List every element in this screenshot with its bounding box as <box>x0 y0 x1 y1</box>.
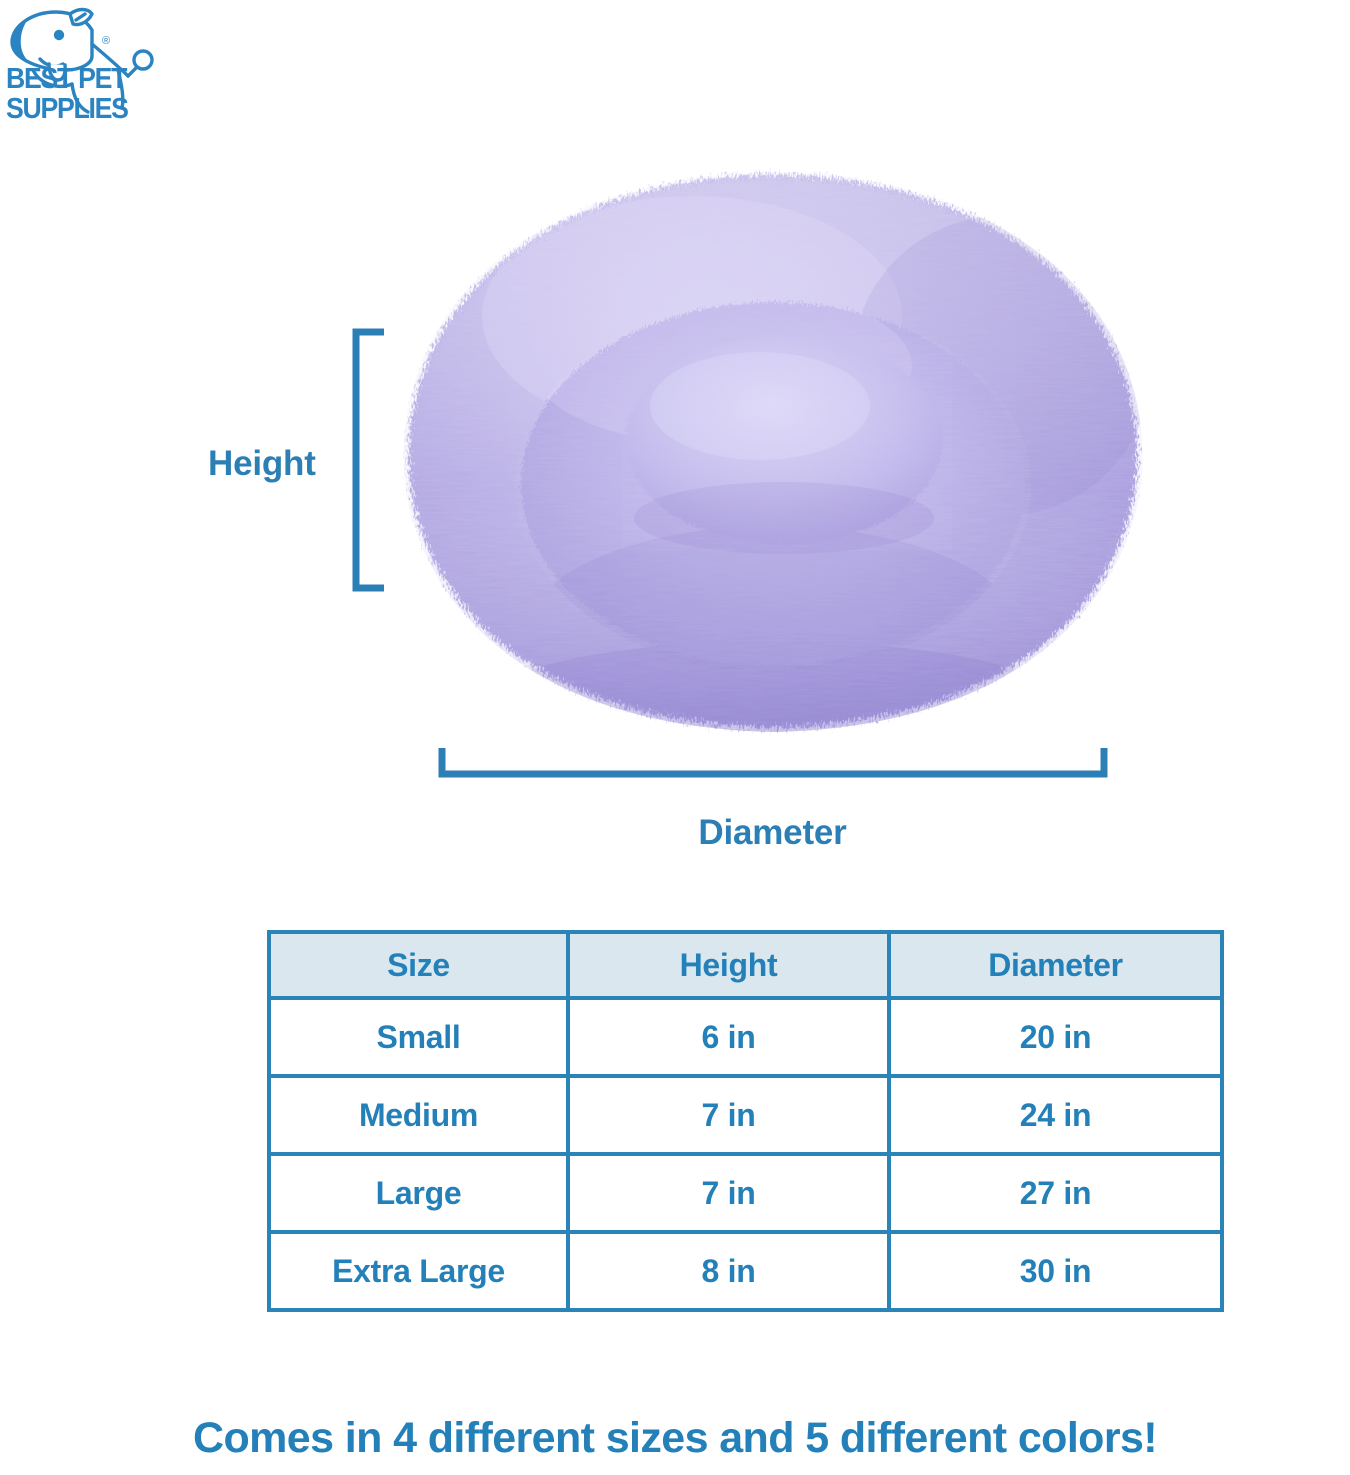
table-row: Medium 7 in 24 in <box>269 1076 1222 1154</box>
table-row: Small 6 in 20 in <box>269 998 1222 1076</box>
brand-name-line1: BEST PET <box>6 64 146 94</box>
cell-diameter: 24 in <box>889 1076 1222 1154</box>
cell-diameter: 27 in <box>889 1154 1222 1232</box>
cell-diameter: 30 in <box>889 1232 1222 1310</box>
column-header-height: Height <box>568 932 889 998</box>
cell-diameter: 20 in <box>889 998 1222 1076</box>
size-chart-table: Size Height Diameter Small 6 in 20 in Me… <box>267 930 1224 1312</box>
registered-mark: ® <box>102 35 110 47</box>
diameter-bracket-icon <box>438 748 1108 778</box>
table-row: Extra Large 8 in 30 in <box>269 1232 1222 1310</box>
table-row: Large 7 in 27 in <box>269 1154 1222 1232</box>
footer-tagline: Comes in 4 different sizes and 5 differe… <box>0 1412 1350 1464</box>
brand-logo: ® BEST PET SUPPLIES <box>6 4 158 128</box>
cell-height: 6 in <box>568 998 889 1076</box>
height-annotation-label: Height <box>208 444 316 484</box>
brand-name-line2: SUPPLIES <box>6 94 146 124</box>
height-bracket-icon <box>352 328 384 592</box>
cell-size: Extra Large <box>269 1232 568 1310</box>
column-header-diameter: Diameter <box>889 932 1222 998</box>
diameter-annotation-label: Diameter <box>0 813 1350 853</box>
cell-size: Small <box>269 998 568 1076</box>
cell-size: Medium <box>269 1076 568 1154</box>
table-header-row: Size Height Diameter <box>269 932 1222 998</box>
product-image-pet-bed <box>392 166 1154 750</box>
cell-size: Large <box>269 1154 568 1232</box>
cell-height: 7 in <box>568 1076 889 1154</box>
cell-height: 7 in <box>568 1154 889 1232</box>
column-header-size: Size <box>269 932 568 998</box>
cell-height: 8 in <box>568 1232 889 1310</box>
size-chart-page: ® BEST PET SUPPLIES <box>0 0 1350 1475</box>
